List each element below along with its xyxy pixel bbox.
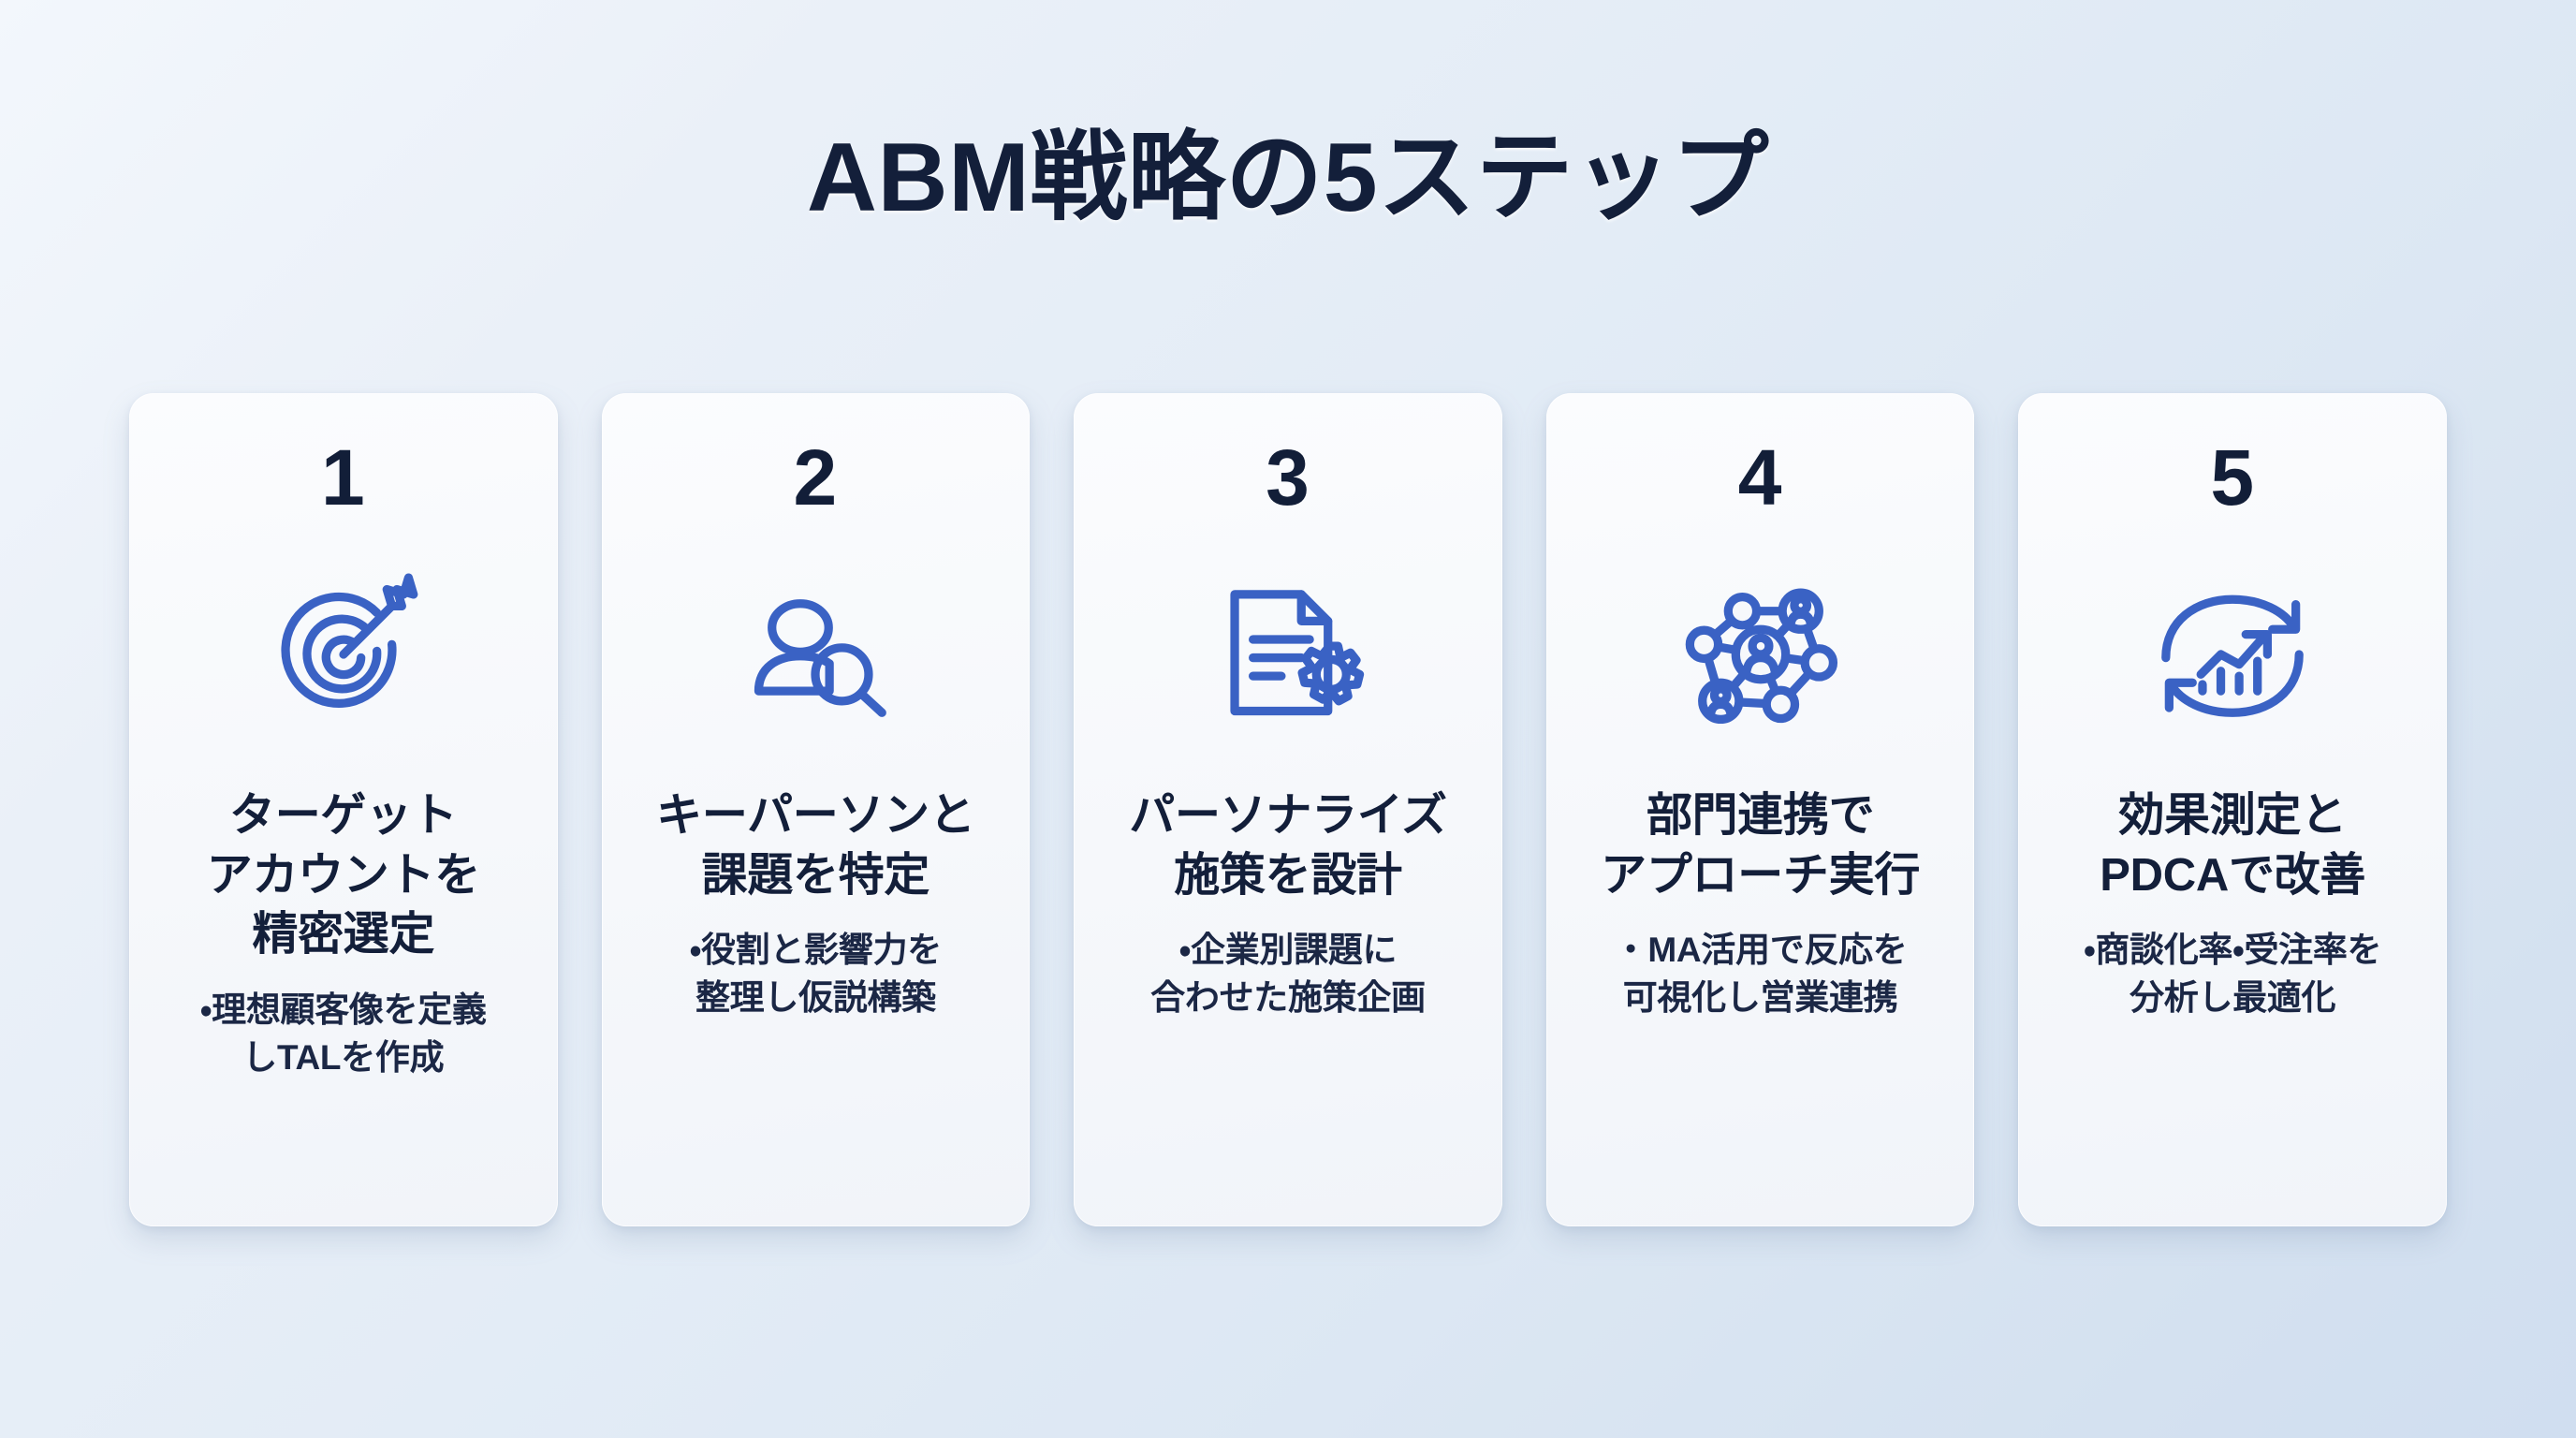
- step-card-2[interactable]: 2 キーパーソンと 課題を特定 ・役割と影響力を 整理し仮説構築: [602, 393, 1031, 1226]
- step-number-3: 3: [1266, 438, 1310, 517]
- step-card-3[interactable]: 3 パーソナライズ 施策を設計 ・企業別課題に 合わせた施策企画: [1074, 393, 1502, 1226]
- step-card-4[interactable]: 4: [1546, 393, 1975, 1226]
- step-bullet-4: ・MA活用で反応を 可視化し営業連携: [1614, 926, 1908, 1021]
- step-number-5: 5: [2210, 438, 2255, 517]
- step-heading-2: キーパーソンと 課題を特定: [656, 786, 974, 905]
- step-heading-1: ターゲット アカウントを 精密選定: [207, 786, 480, 965]
- document-gear-icon: [1205, 569, 1371, 740]
- cycle-growth-chart-icon: [2149, 569, 2316, 740]
- step-card-1[interactable]: 1 ターゲット アカウントを 精密選定 ・理想顧客像を定義 しTALを作成: [129, 393, 558, 1226]
- steps-rail: 1 ターゲット アカウントを 精密選定 ・理想顧客像を定義 しTALを作成: [129, 393, 2447, 1226]
- step-bullet-5: ・商談化率・受注率を 分析し最適化: [2084, 926, 2381, 1021]
- step-heading-5: 効果測定と PDCAで改善: [2100, 786, 2365, 905]
- step-number-2: 2: [794, 438, 839, 517]
- step-heading-4: 部門連携で アプローチ実行: [1601, 786, 1920, 905]
- network-people-icon: [1677, 569, 1844, 740]
- step-card-5[interactable]: 5: [2018, 393, 2447, 1226]
- step-bullet-1: ・理想顧客像を定義 しTALを作成: [200, 986, 487, 1081]
- target-arrow-icon: [260, 569, 427, 740]
- step-number-1: 1: [321, 438, 366, 517]
- step-bullet-3: ・企業別課題に 合わせた施策企画: [1150, 926, 1426, 1021]
- person-search-icon: [732, 569, 899, 740]
- page-title: ABM戦略の5ステップ: [0, 124, 2576, 232]
- step-heading-3: パーソナライズ 施策を設計: [1129, 786, 1446, 905]
- slide-root: ABM戦略の5ステップ 1 ターゲット アカウントを 精密: [0, 0, 2576, 1438]
- step-number-4: 4: [1738, 438, 1783, 517]
- step-bullet-2: ・役割と影響力を 整理し仮説構築: [690, 926, 942, 1021]
